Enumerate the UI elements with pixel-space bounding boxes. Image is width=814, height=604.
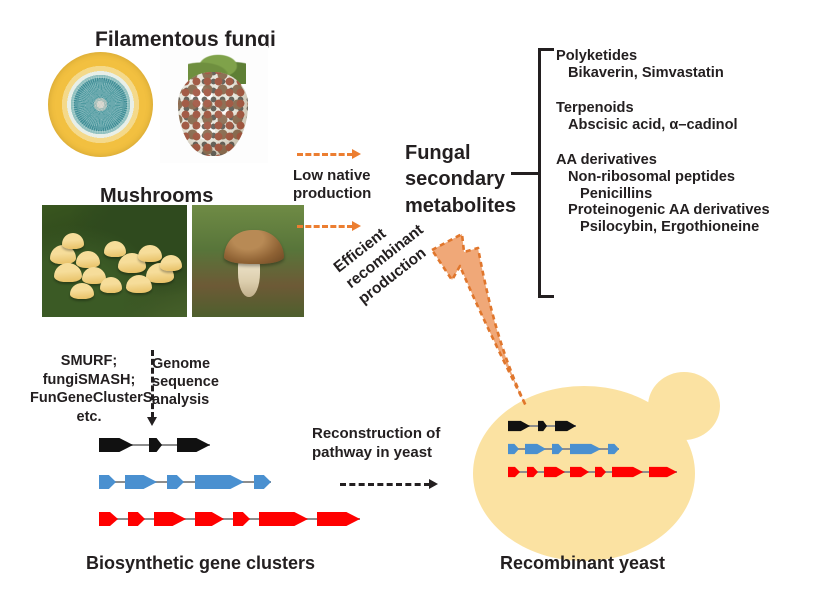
metabolite-group-header: Terpenoids (556, 100, 814, 117)
gene-arrow (525, 441, 546, 457)
gene-arrow (552, 441, 563, 457)
yeast-gene-track-black (508, 418, 580, 434)
mold-spots (178, 72, 248, 156)
gene-arrow (233, 508, 250, 530)
gene-arrow (99, 508, 118, 530)
gene-arrow (508, 464, 520, 480)
metabolite-group-header: AA derivatives (556, 152, 814, 169)
metabolite-group-header: Polyketides (556, 48, 814, 65)
moldy-strawberry-image (160, 46, 268, 163)
gene-arrow (195, 471, 244, 493)
metabolite-group: PolyketidesBikaverin, Simvastatin (556, 48, 814, 81)
gene-arrow (254, 471, 271, 493)
gene-arrow (527, 464, 538, 480)
gene-arrow (570, 441, 601, 457)
fungal-secondary-metabolites-heading: Fungal secondary metabolites (405, 140, 516, 219)
mushroom-cap (224, 230, 284, 264)
biosynthetic-gene-clusters-title: Biosynthetic gene clusters (86, 553, 315, 574)
gene-connector-line (99, 481, 271, 483)
petri-dish-image (44, 48, 157, 161)
gene-arrow (508, 418, 530, 434)
metabolite-group-spacer (556, 83, 814, 100)
metabolite-subitem: Proteinogenic AA derivatives (556, 202, 814, 219)
metabolite-example: Penicillins (556, 186, 814, 203)
metabolite-group-spacer (556, 135, 814, 152)
gene-arrow (608, 441, 619, 457)
gene-arrow (508, 441, 519, 457)
gene-arrow (125, 471, 157, 493)
gene-track-blue (99, 471, 277, 493)
metabolite-example: Psilocybin, Ergothioneine (556, 219, 814, 236)
gene-arrow (259, 508, 308, 530)
genome-sequence-analysis-label: Genome sequence analysis (152, 355, 219, 409)
gene-arrow (317, 508, 360, 530)
gene-arrow (595, 464, 606, 480)
gene-arrow (128, 508, 145, 530)
gene-track-red (99, 508, 365, 530)
reconstruction-arrow (340, 478, 438, 490)
yeast-gene-track-blue (508, 441, 622, 457)
gene-arrow (538, 418, 547, 434)
low-native-production-arrow-top (297, 148, 361, 160)
metabolite-group: TerpenoidsAbscisic acid, α–cadinol (556, 100, 814, 133)
low-native-production-label: Low native production (293, 167, 371, 204)
gene-arrow (612, 464, 643, 480)
gene-arrow (154, 508, 186, 530)
gene-arrow (99, 471, 116, 493)
gene-arrow (149, 434, 162, 456)
recombinant-yeast-title: Recombinant yeast (500, 553, 665, 574)
bolete-mushroom-image (192, 205, 304, 317)
gene-arrow (649, 464, 677, 480)
gene-arrow (555, 418, 576, 434)
gene-connector-line (508, 448, 619, 450)
metabolite-group: AA derivativesNon-ribosomal peptidesPeni… (556, 152, 814, 235)
metabolite-subitem: Abscisic acid, α–cadinol (556, 117, 814, 134)
reconstruction-label: Reconstruction of pathway in yeast (312, 425, 440, 463)
gene-arrow (167, 471, 184, 493)
genome-mining-tools-label: SMURF; fungiSMASH; FunGeneClusterS etc. (30, 352, 148, 426)
metabolite-subitem: Bikaverin, Simvastatin (556, 65, 814, 82)
mushroom-cluster-image (42, 205, 187, 317)
gene-track-black (99, 434, 217, 456)
gene-arrow (99, 434, 133, 456)
figure-canvas: Filamentous fungi Mushrooms SMURF; fungi… (0, 0, 814, 604)
metabolite-list: PolyketidesBikaverin, SimvastatinTerpeno… (556, 48, 814, 237)
gene-arrow (195, 508, 224, 530)
yeast-gene-track-red (508, 464, 680, 480)
metabolite-subitem: Non-ribosomal peptides (556, 169, 814, 186)
low-native-production-arrow-bottom (297, 220, 361, 232)
gene-arrow (177, 434, 210, 456)
metabolite-brace (525, 44, 551, 302)
mold-colony-rays (48, 52, 153, 157)
gene-arrow (570, 464, 589, 480)
gene-arrow (544, 464, 565, 480)
